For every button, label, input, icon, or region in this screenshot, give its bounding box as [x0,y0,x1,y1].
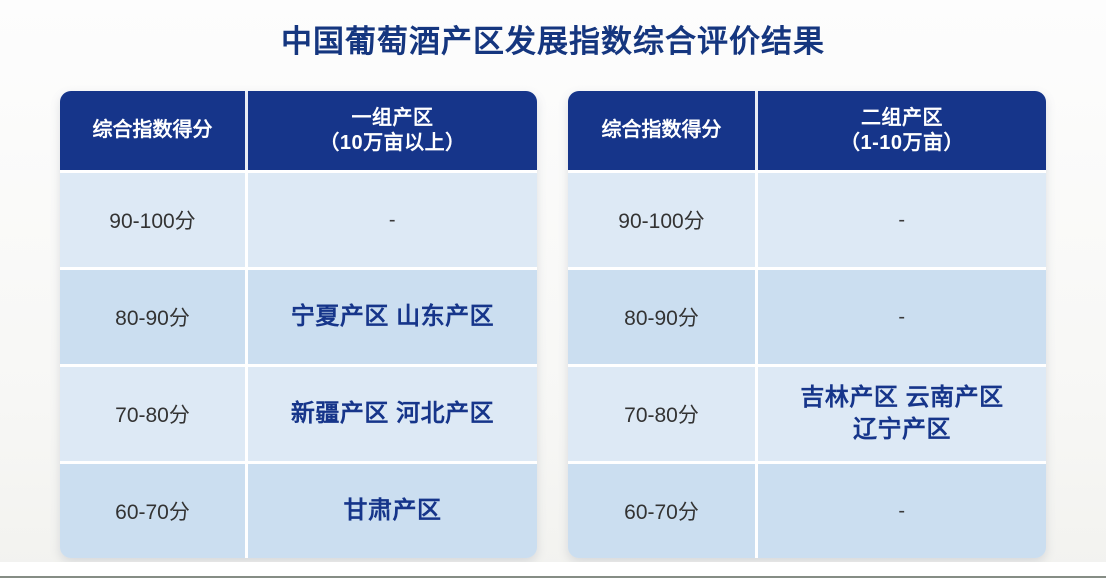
cell-score: 90-100分 [568,173,755,267]
table-row[interactable]: 70-80分 新疆产区 河北产区 [60,364,537,461]
table-group-two: 综合指数得分 二组产区 （1-10万亩） 90-100分 - 80-90分 - … [568,91,1046,558]
table-row[interactable]: 60-70分 甘肃产区 [60,461,537,558]
cell-score: 60-70分 [568,464,755,558]
table-row[interactable]: 90-100分 - [568,170,1046,267]
cell-regions: 甘肃产区 [245,464,537,558]
cell-regions: - [245,173,537,267]
header-group-label: 一组产区 （10万亩以上） [245,91,537,170]
cell-regions: - [755,464,1046,558]
table-group-one: 综合指数得分 一组产区 （10万亩以上） 90-100分 - 80-90分 宁夏… [60,91,537,558]
table-header-row: 综合指数得分 二组产区 （1-10万亩） [568,91,1046,170]
cell-regions: - [755,270,1046,364]
table-row[interactable]: 70-80分 吉林产区 云南产区 辽宁产区 [568,364,1046,461]
cell-score: 60-70分 [60,464,245,558]
header-group-label: 二组产区 （1-10万亩） [755,91,1046,170]
table-row[interactable]: 90-100分 - [60,170,537,267]
table-row[interactable]: 80-90分 宁夏产区 山东产区 [60,267,537,364]
cell-score: 70-80分 [568,367,755,461]
page-title: 中国葡萄酒产区发展指数综合评价结果 [0,16,1106,61]
cell-regions: 吉林产区 云南产区 辽宁产区 [755,367,1046,461]
cell-score: 80-90分 [568,270,755,364]
table-row[interactable]: 80-90分 - [568,267,1046,364]
bottom-band [0,562,1106,576]
tables-area: 综合指数得分 一组产区 （10万亩以上） 90-100分 - 80-90分 宁夏… [0,91,1106,556]
table-row[interactable]: 60-70分 - [568,461,1046,558]
cell-score: 90-100分 [60,173,245,267]
header-score-label: 综合指数得分 [568,91,755,170]
header-score-label: 综合指数得分 [60,91,245,170]
cell-regions: 新疆产区 河北产区 [245,367,537,461]
cell-regions: 宁夏产区 山东产区 [245,270,537,364]
table-header-row: 综合指数得分 一组产区 （10万亩以上） [60,91,537,170]
cell-regions: - [755,173,1046,267]
cell-score: 80-90分 [60,270,245,364]
cell-score: 70-80分 [60,367,245,461]
